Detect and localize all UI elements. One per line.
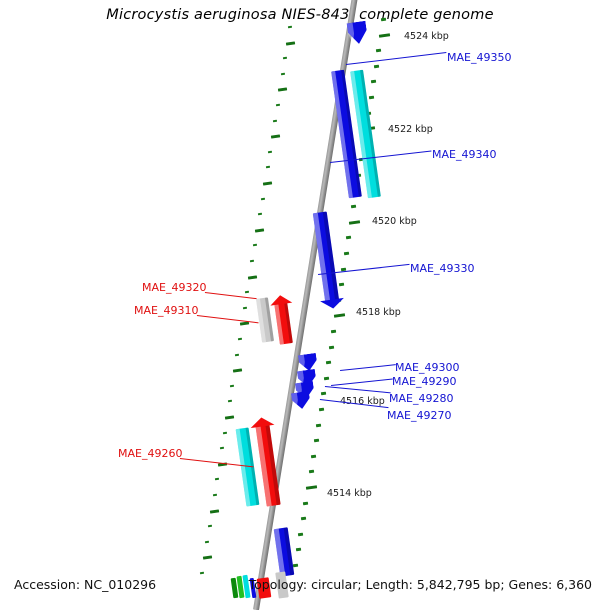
scale-tick-minor (253, 244, 257, 247)
scale-tick-minor (321, 392, 326, 395)
scale-tick-minor (316, 423, 321, 426)
scale-tick-minor (260, 197, 264, 200)
scale-tick-major (225, 415, 234, 419)
gene-label-MAE_49260[interactable]: MAE_49260 (118, 447, 182, 460)
gene-bottom-blue[interactable] (274, 527, 295, 576)
scale-tick-major (334, 314, 345, 319)
gene-label-MAE_49320[interactable]: MAE_49320 (142, 281, 206, 294)
leader-line-MAE_49320 (205, 292, 257, 299)
scale-tick-minor (280, 73, 284, 76)
gene-mae49260-cyan[interactable] (236, 427, 260, 506)
gene-body (313, 211, 339, 302)
scale-tick-minor (258, 213, 262, 216)
gene-highlight (274, 302, 284, 344)
scale-tick-minor (265, 166, 269, 169)
scale-tick-major (278, 88, 287, 92)
scale-label-4520: 4520 kbp (372, 216, 417, 227)
scale-tick-minor (213, 494, 217, 497)
scale-label-4524: 4524 kbp (404, 31, 449, 42)
gene-shadow (284, 527, 294, 575)
scale-tick-minor (351, 205, 356, 208)
gene-arrow-cap-up (249, 416, 274, 428)
scale-tick-minor (344, 252, 349, 255)
scale-tick-minor (205, 541, 209, 544)
scale-tick-major (202, 556, 211, 560)
scale-tick-major (349, 220, 360, 225)
gene-label-MAE_49290[interactable]: MAE_49290 (392, 375, 456, 388)
gene-body (274, 527, 295, 576)
gene-label-MAE_49330[interactable]: MAE_49330 (410, 262, 474, 275)
leader-line-MAE_49290 (331, 379, 393, 386)
gene-mae49310-red[interactable] (274, 301, 293, 344)
gene-label-MAE_49270[interactable]: MAE_49270 (387, 409, 451, 422)
gene-mae49270-head[interactable] (291, 391, 311, 410)
scale-tick-minor (311, 454, 316, 457)
gene-body (236, 427, 260, 506)
gene-shadow (284, 301, 293, 343)
gene-top-blue-arrow[interactable] (347, 21, 369, 45)
scale-tick-minor (245, 291, 249, 294)
accession-status: Accession: NC_010296 (14, 577, 156, 592)
page-title: Microcystis aeruginosa NIES-843, complet… (0, 7, 600, 23)
scale-tick-major (255, 228, 264, 232)
scale-tick-minor (200, 572, 204, 575)
scale-tick-minor (331, 330, 336, 333)
scale-tick-minor (250, 260, 254, 263)
scale-tick-major (240, 322, 249, 326)
scale-tick-major (306, 485, 317, 490)
gene-mae49330-blue[interactable] (313, 211, 339, 302)
scale-tick-minor (273, 119, 277, 122)
scale-tick-minor (208, 525, 212, 528)
leader-line-MAE_49310 (197, 315, 259, 323)
scale-label-4518: 4518 kbp (356, 307, 401, 318)
scale-tick-minor (313, 439, 318, 442)
genome-map-canvas[interactable]: Microcystis aeruginosa NIES-843, complet… (0, 0, 600, 600)
scale-tick-major (248, 275, 257, 279)
scale-tick-minor (339, 283, 344, 286)
gene-highlight (274, 529, 285, 577)
scale-tick-minor (268, 151, 272, 154)
scale-tick-major (379, 33, 390, 38)
scale-tick-minor (374, 64, 379, 67)
scale-tick-minor (223, 431, 227, 434)
scale-tick-major (233, 369, 242, 373)
scale-tick-minor (243, 307, 247, 310)
scale-tick-minor (369, 96, 374, 99)
gene-arrow-cap-down (320, 298, 345, 310)
scale-tick-minor (288, 26, 292, 29)
scale-tick-major (270, 135, 279, 139)
leader-line-MAE_49300 (340, 364, 396, 371)
scale-tick-major (286, 41, 295, 45)
scale-tick-minor (376, 49, 381, 52)
scale-tick-minor (293, 564, 298, 567)
gene-body (274, 301, 293, 344)
leader-line-MAE_49280 (325, 386, 391, 393)
scale-label-4522: 4522 kbp (388, 124, 433, 135)
scale-tick-minor (323, 376, 328, 379)
scale-tick-minor (301, 517, 306, 520)
scale-tick-minor (303, 501, 308, 504)
scale-label-4514: 4514 kbp (327, 488, 372, 499)
scale-tick-minor (308, 470, 313, 473)
scale-tick-major (210, 509, 219, 513)
gene-highlight (256, 298, 266, 342)
scale-tick-minor (371, 80, 376, 83)
gene-label-MAE_49310[interactable]: MAE_49310 (134, 304, 198, 317)
scale-tick-minor (215, 478, 219, 481)
gene-arrow-cap-up (269, 294, 292, 306)
scale-tick-minor (220, 447, 224, 450)
scale-tick-minor (283, 57, 287, 60)
leader-line-MAE_49350 (346, 52, 446, 65)
scale-tick-major (263, 181, 272, 185)
scale-tick-minor (275, 104, 279, 107)
genome-summary-status: Topology: circular; Length: 5,842,795 bp… (249, 577, 592, 592)
scale-tick-minor (235, 353, 239, 356)
gene-label-MAE_49340[interactable]: MAE_49340 (432, 148, 496, 161)
scale-tick-minor (238, 338, 242, 341)
gene-label-MAE_49300[interactable]: MAE_49300 (395, 361, 459, 374)
scale-tick-minor (230, 385, 234, 388)
scale-tick-minor (346, 236, 351, 239)
scale-tick-minor (298, 532, 303, 535)
gene-label-MAE_49350[interactable]: MAE_49350 (447, 51, 511, 64)
scale-tick-minor (228, 400, 232, 403)
scale-tick-minor (328, 345, 333, 348)
scale-tick-minor (318, 408, 323, 411)
scale-tick-minor (326, 361, 331, 364)
scale-tick-minor (296, 548, 301, 551)
gene-label-MAE_49280[interactable]: MAE_49280 (389, 392, 453, 405)
